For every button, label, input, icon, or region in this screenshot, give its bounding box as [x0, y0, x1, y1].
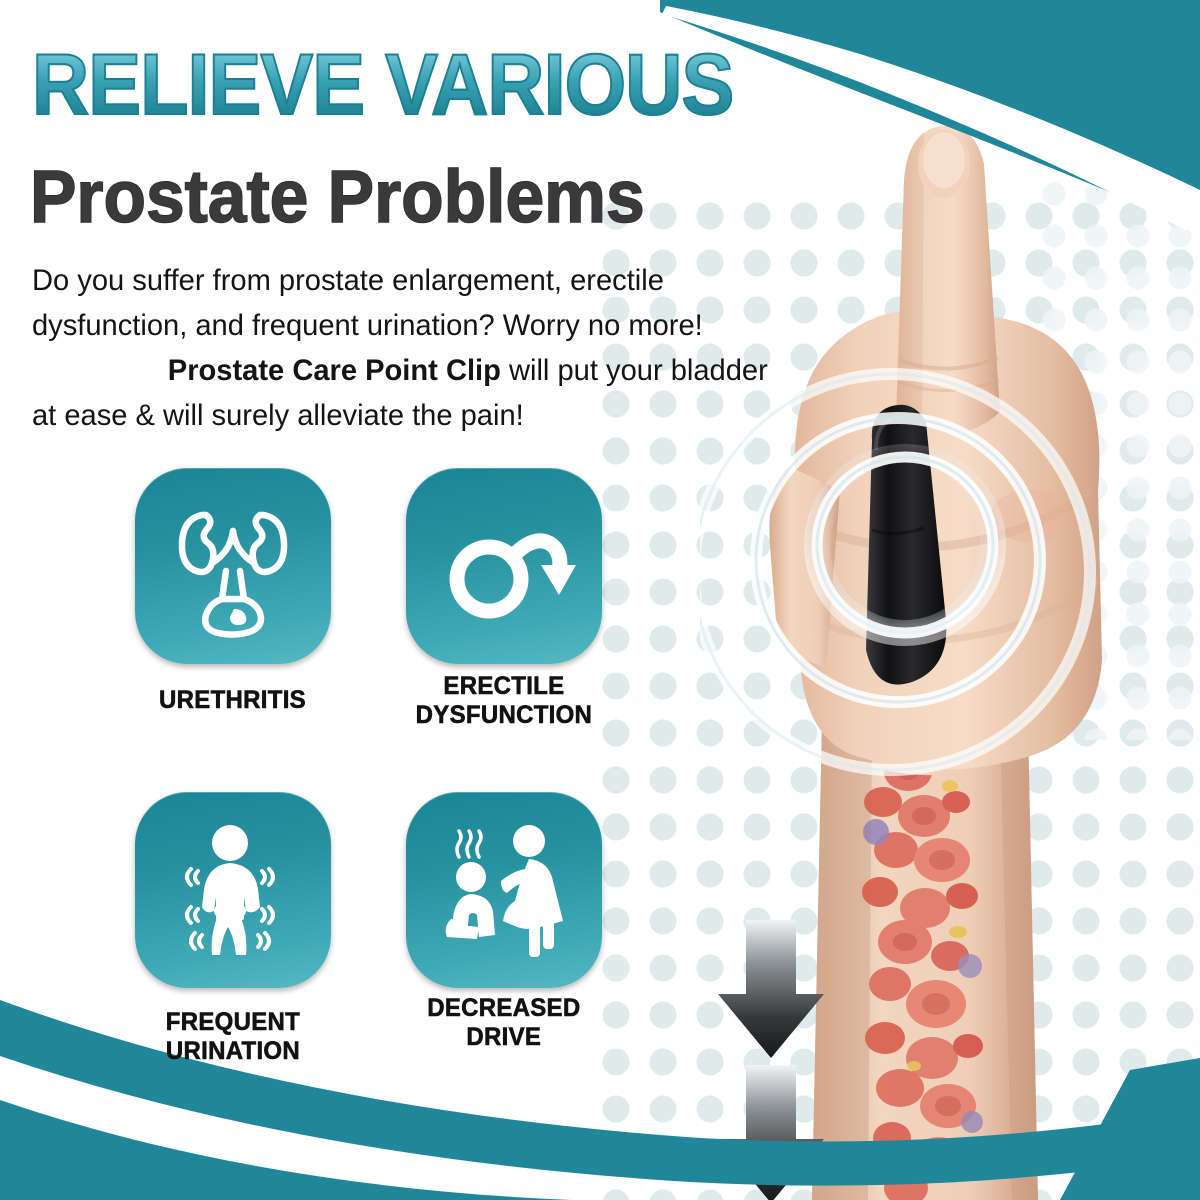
male-symbol-bent-arrow-icon: [429, 491, 579, 641]
page-title: RELIEVE VARIOUS: [32, 45, 733, 127]
feature-grid: URETHRITIS ERECTILE DYSFUNCTION: [108, 468, 628, 1066]
feature-label-urethritis: URETHRITIS: [159, 686, 306, 715]
page-subtitle: Prostate Problems: [30, 160, 645, 234]
couple-rejection-icon: [429, 815, 579, 965]
feature-label-decreased-drive: DECREASED DRIVE: [427, 994, 580, 1052]
body-line-3: Prostate Care Point Clip will put your b…: [32, 348, 789, 393]
feature-label-fu-line2: URINATION: [165, 1037, 299, 1066]
body-copy: Do you suffer from prostate enlargement,…: [32, 258, 789, 438]
poster-root: RELIEVE VARIOUS Prostate Problems Do you…: [0, 0, 1200, 1200]
kidney-bladder-icon: [158, 491, 308, 641]
feature-label-fu-line1: FREQUENT: [165, 1008, 299, 1037]
body-line-2: dysfunction, and frequent urination? Wor…: [32, 303, 789, 348]
feature-frequent-urination[interactable]: FREQUENT URINATION: [108, 792, 357, 1066]
down-arrow-2: [718, 1065, 824, 1200]
feature-urethritis[interactable]: URETHRITIS: [108, 468, 357, 730]
feature-label-ed-line1: ERECTILE: [415, 672, 592, 701]
person-holding-bladder-icon: [158, 815, 308, 965]
hand-product-illustration: [700, 60, 1200, 1200]
product-name: Prostate Care Point Clip: [168, 354, 501, 387]
feature-label-dd-line2: DRIVE: [427, 1023, 580, 1052]
feature-row-1: URETHRITIS ERECTILE DYSFUNCTION: [108, 468, 628, 730]
feature-decreased-drive[interactable]: DECREASED DRIVE: [379, 792, 628, 1066]
feature-card-erectile-dysfunction[interactable]: [406, 468, 602, 664]
feature-label-frequent-urination: FREQUENT URINATION: [165, 1008, 299, 1066]
feature-label-ed-line2: DYSFUNCTION: [415, 701, 592, 730]
product-photo: [700, 60, 1200, 1200]
body-line-3-tail: will put your bladder: [501, 354, 768, 387]
down-arrow-1: [718, 920, 824, 1058]
feature-card-decreased-drive[interactable]: [406, 792, 602, 988]
feature-erectile-dysfunction[interactable]: ERECTILE DYSFUNCTION: [379, 468, 628, 730]
body-line-4: at ease & will surely alleviate the pain…: [32, 393, 789, 438]
feature-card-frequent-urination[interactable]: [135, 792, 331, 988]
feature-label-erectile-dysfunction: ERECTILE DYSFUNCTION: [415, 672, 592, 730]
body-line-1: Do you suffer from prostate enlargement,…: [32, 258, 789, 303]
feature-label-dd-line1: DECREASED: [427, 994, 580, 1023]
feature-card-urethritis[interactable]: [135, 468, 331, 664]
feature-row-2: FREQUENT URINATION: [108, 792, 628, 1066]
